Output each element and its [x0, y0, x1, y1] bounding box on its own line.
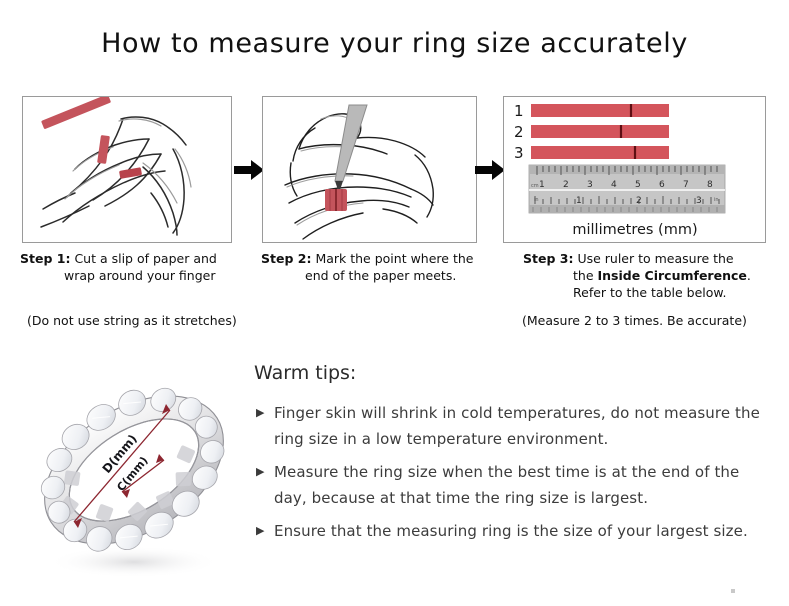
strip-number-1: 1: [514, 102, 524, 120]
step-2-illustration-panel: [262, 96, 477, 243]
step-1-note: (Do not use string as it stretches): [27, 313, 237, 328]
svg-text:6: 6: [659, 180, 665, 190]
tip-item: ▶ Ensure that the measuring ring is the …: [254, 518, 774, 544]
ruler-measurement-icon: 1 2 3: [504, 97, 765, 242]
page-title: How to measure your ring size accurately: [0, 28, 789, 59]
warm-tips-section: Warm tips: ▶ Finger skin will shrink in …: [254, 362, 774, 551]
step-3-caption: Step 3: Use ruler to measure the the Ins…: [523, 250, 775, 301]
arrow-right-icon-1: [234, 158, 264, 182]
step-3-note: (Measure 2 to 3 times. Be accurate): [522, 313, 747, 328]
steps-illustration-row: 1 2 3: [0, 96, 789, 246]
bullet-triangle-icon: ▶: [254, 518, 274, 544]
step-2-line2: end of the paper meets.: [261, 267, 499, 284]
ring-diagram: D(mm) C(mm): [18, 352, 250, 590]
arrow-right-icon-2: [475, 158, 505, 182]
step-3-line2-suffix: .: [747, 268, 751, 283]
svg-text:3: 3: [587, 180, 593, 190]
strip-number-3: 3: [514, 144, 524, 162]
bullet-triangle-icon: ▶: [254, 400, 274, 426]
inside-circumference-emphasis: Inside Circumference: [598, 268, 747, 283]
step-1-line1: Cut a slip of paper and: [74, 251, 216, 266]
svg-text:4: 4: [611, 180, 617, 190]
step-3-line1: Use ruler to measure the: [577, 251, 733, 266]
tip-item: ▶ Measure the ring size when the best ti…: [254, 459, 774, 511]
svg-text:8: 8: [707, 180, 713, 190]
step-1-line2: wrap around your finger: [20, 267, 256, 284]
eternity-ring-photo-icon: D(mm) C(mm): [18, 352, 250, 590]
svg-text:3: 3: [696, 196, 702, 206]
strip-number-2: 2: [514, 123, 524, 141]
tip-text: Measure the ring size when the best time…: [274, 459, 774, 511]
tip-text: Ensure that the measuring ring is the si…: [274, 518, 774, 544]
step-1-illustration-panel: [22, 96, 232, 243]
step-2-label: Step 2:: [261, 251, 311, 266]
ruler-unit-caption: millimetres (mm): [572, 222, 697, 238]
svg-text:1: 1: [539, 180, 545, 190]
step-2-caption: Step 2: Mark the point where the end of …: [261, 250, 499, 284]
svg-text:5: 5: [635, 180, 641, 190]
svg-text:1: 1: [576, 196, 582, 206]
svg-text:2: 2: [563, 180, 569, 190]
image-artifact: [731, 589, 735, 593]
step-3-line2: the Inside Circumference.: [523, 267, 775, 284]
bullet-triangle-icon: ▶: [254, 459, 274, 485]
step-3-label: Step 3:: [523, 251, 573, 266]
tip-item: ▶ Finger skin will shrink in cold temper…: [254, 400, 774, 452]
svg-text:cm: cm: [531, 183, 539, 189]
step-3-line2-prefix: the: [573, 268, 598, 283]
step-2-line1: Mark the point where the: [315, 251, 473, 266]
step-1-label: Step 1:: [20, 251, 70, 266]
step-3-illustration-panel: 1 2 3: [503, 96, 766, 243]
warm-tips-heading: Warm tips:: [254, 362, 774, 384]
svg-text:in: in: [714, 197, 719, 203]
svg-text:7: 7: [683, 180, 689, 190]
step-1-caption: Step 1: Cut a slip of paper and wrap aro…: [20, 250, 256, 284]
step-3-line3: Refer to the table below.: [523, 284, 775, 301]
hand-with-paper-strip-icon: [23, 97, 231, 242]
tip-text: Finger skin will shrink in cold temperat…: [274, 400, 774, 452]
hand-marking-paper-icon: [263, 97, 476, 242]
